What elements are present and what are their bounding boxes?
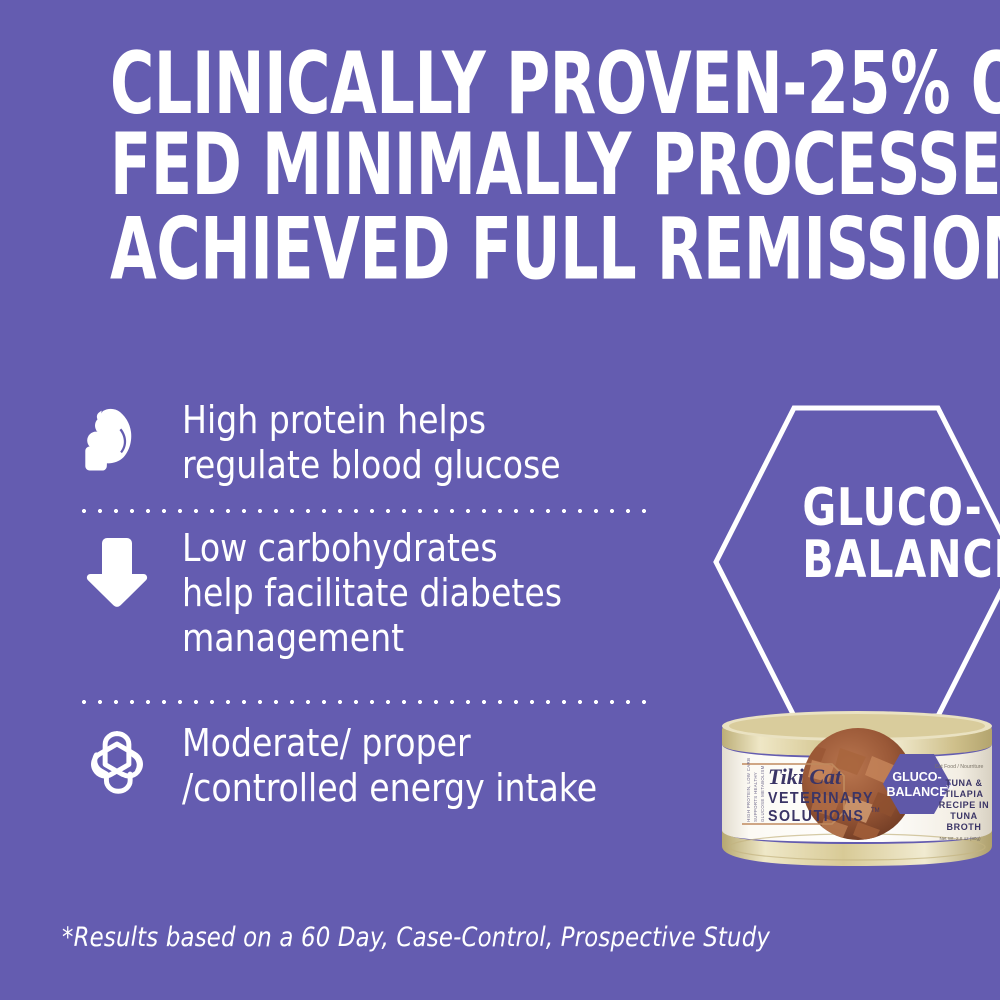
can-side-text-2: SUPPORTS HEALTHY	[753, 772, 758, 822]
can-net-weight: Net Wt. 2.8 oz (80g)	[939, 836, 981, 841]
list-item-label: High protein helps regulate blood glucos…	[182, 392, 561, 488]
divider	[76, 699, 652, 705]
badge-label-line-2-text: BALANCE	[802, 530, 1000, 590]
can-brand: Tiki Cat	[768, 764, 842, 789]
can-recipe-line-3: RECIPE IN	[939, 800, 989, 810]
headline-line-1: CLINICALLY PROVEN-25% OF CATS	[110, 44, 890, 125]
list-item: Moderate/ proper /controlled energy inta…	[74, 715, 694, 825]
can-range-line-2: SOLUTIONS	[768, 809, 864, 826]
benefit-list: High protein helps regulate blood glucos…	[74, 392, 694, 825]
can-recipe-line-2: TILAPIA	[944, 789, 983, 799]
footnote: *Results based on a 60 Day, Case-Control…	[62, 922, 770, 953]
can-recipe-line-4: TUNA	[950, 811, 977, 821]
can-range-trademark: TM	[871, 808, 880, 814]
headline: CLINICALLY PROVEN-25% OF CATS FED MINIMA…	[110, 44, 890, 290]
down-arrow-icon	[74, 524, 160, 626]
can-recipe-line-1: TUNA &	[945, 778, 982, 788]
list-item-label: Moderate/ proper /controlled energy inta…	[182, 715, 597, 811]
can-recipe-line-5: BROTH	[947, 822, 982, 832]
knot-rosette-icon	[74, 715, 160, 807]
promo-banner: CLINICALLY PROVEN-25% OF CATS FED MINIMA…	[0, 0, 1000, 1000]
badge-label-line-2: BALANCETM	[802, 534, 982, 586]
can-hex-line-1: GLUCO-	[892, 770, 941, 784]
headline-line-2: FED MINIMALLY PROCESSED DIETS	[110, 125, 890, 206]
can-side-text-3: GLUCOSE METABOLISM	[760, 765, 765, 822]
can-side-text-1: HIGH PROTEIN, LOW CARB	[746, 758, 751, 822]
list-item-label: Low carbohydrates help facilitate diabet…	[182, 524, 562, 662]
product-can-image: HIGH PROTEIN, LOW CARB SUPPORTS HEALTHY …	[712, 700, 1000, 872]
badge-label: GLUCO- BALANCETM	[802, 482, 982, 586]
badge-label-line-1: GLUCO-	[802, 482, 982, 534]
list-item: Low carbohydrates help facilitate diabet…	[74, 524, 694, 689]
gluco-balance-badge: GLUCO- BALANCETM	[706, 404, 1000, 720]
list-item: High protein helps regulate blood glucos…	[74, 392, 694, 502]
can-hex-line-2: BALANCE	[886, 785, 947, 799]
can-category: Cat Food / Nourriture	[935, 764, 984, 770]
flexed-bicep-icon	[74, 392, 160, 484]
can-range-line-1: VETERINARY	[768, 791, 874, 808]
headline-line-3: ACHIEVED FULL REMISSION.*	[110, 206, 890, 290]
divider	[76, 508, 652, 514]
headline-line-3-text: ACHIEVED FULL REMISSION.	[110, 199, 1000, 299]
